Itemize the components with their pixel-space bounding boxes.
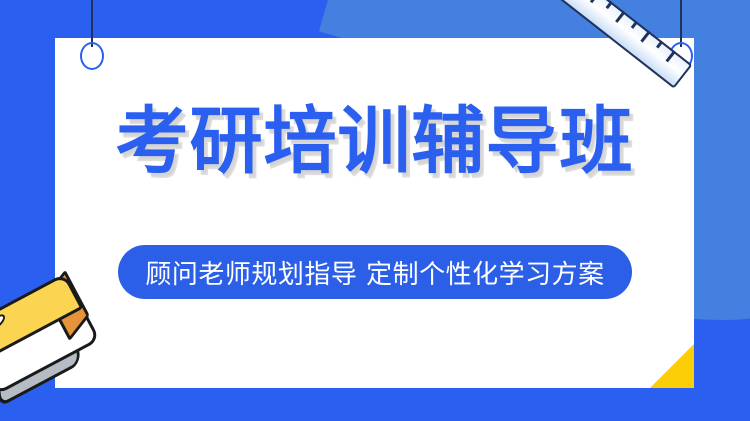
page-title: 考研培训辅导班 (55, 105, 694, 178)
ruler-tick (666, 50, 676, 62)
ruler-tick (615, 11, 625, 23)
subtitle-text: 顾问老师规划指导 定制个性化学习方案 (145, 254, 604, 291)
ruler-tick (656, 40, 663, 48)
pin-wire (680, 0, 682, 47)
content-card (55, 38, 694, 388)
ruler-tick (590, 0, 600, 3)
ruler-tick (606, 1, 613, 9)
eraser-highlight-dot (0, 312, 7, 330)
ruler-tick (631, 21, 638, 29)
poster-banner: 考研培训辅导班 顾问老师规划指导 定制个性化学习方案 (0, 0, 750, 421)
pin-wire (91, 0, 93, 47)
pin-ring (80, 42, 104, 70)
ruler-tick (640, 31, 650, 43)
subtitle-pill: 顾问老师规划指导 定制个性化学习方案 (118, 245, 632, 299)
folded-corner-icon (650, 344, 694, 388)
